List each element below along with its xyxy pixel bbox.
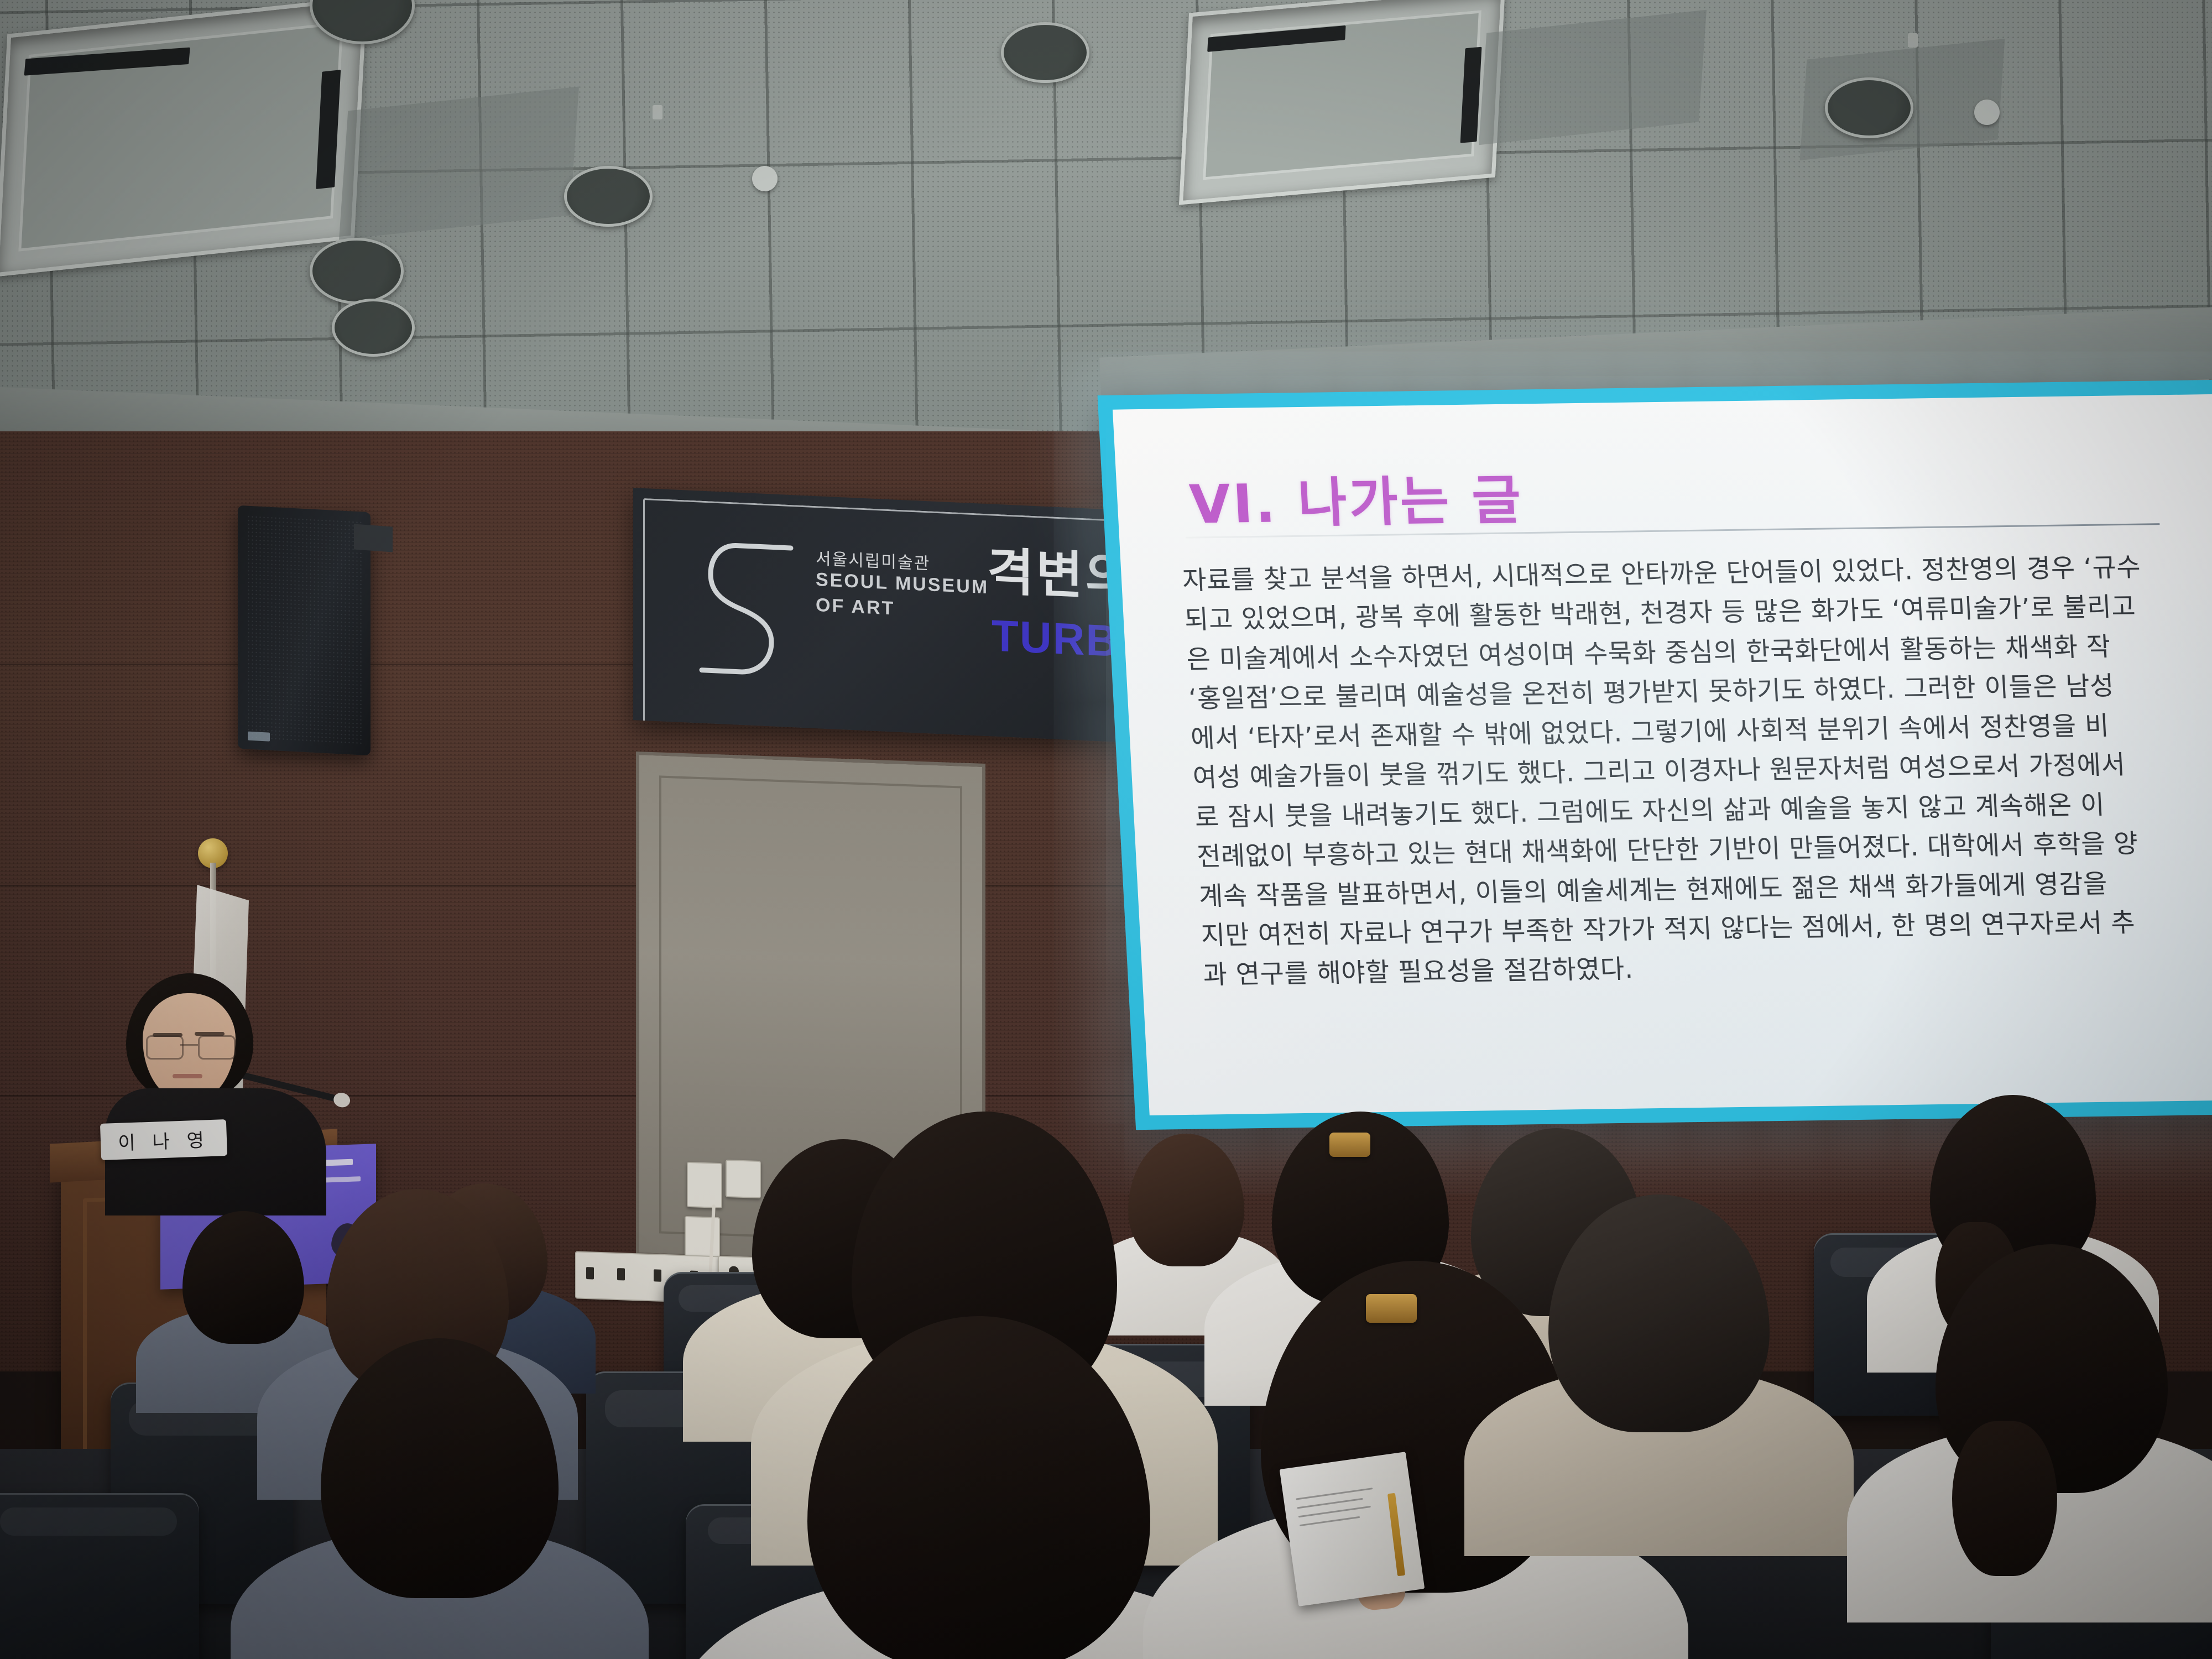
seat[interactable] xyxy=(0,1493,199,1659)
smoa-s-logo-icon xyxy=(694,534,799,705)
audience-member xyxy=(1936,1244,2168,1493)
recessed-downlight-5 xyxy=(332,299,415,357)
ceiling-panel-a xyxy=(339,87,579,240)
speaker-nameplate: 이 나 영 xyxy=(100,1119,227,1160)
sprinkler-head-1 xyxy=(1908,33,1918,48)
audience-member xyxy=(807,1316,1150,1659)
speaker-mount-bracket xyxy=(354,524,393,552)
ceiling-ac-cassette-1 xyxy=(0,0,367,277)
smoke-detector-2 xyxy=(1974,100,2000,125)
recessed-downlight-3 xyxy=(564,166,653,227)
presenter-mouth xyxy=(173,1074,202,1078)
recessed-downlight-6 xyxy=(1825,77,1913,138)
projected-slide: VI. 나가는 글 자료를 찾고 분석을 하면서, 시대적으로 안타까운 단어들… xyxy=(1113,394,2212,1115)
slide-body: 자료를 찾고 분석을 하면서, 시대적으로 안타까운 단어들이 있었다. 정찬영… xyxy=(1181,545,2212,995)
projection-screen: VI. 나가는 글 자료를 찾고 분석을 하면서, 시대적으로 안타까운 단어들… xyxy=(1098,380,2212,1130)
speaker-name: 이 나 영 xyxy=(117,1125,210,1155)
audience-member xyxy=(321,1338,559,1598)
slide-title: VI. 나가는 글 xyxy=(1187,457,1525,538)
audience-member xyxy=(1128,1134,1244,1266)
presenter xyxy=(105,973,337,1206)
lecture-hall-photo: 서울시립미술관 SEOUL MUSEUM OF ART 격변의 시 TURBUL… xyxy=(0,0,2212,1659)
recessed-downlight-2 xyxy=(310,238,404,304)
recessed-downlight-4 xyxy=(1001,22,1089,83)
ceiling-ac-cassette-2 xyxy=(1179,0,1505,205)
program-booklet xyxy=(1280,1452,1425,1606)
banner-museum-name-en-2: OF ART xyxy=(816,594,895,620)
audience-member xyxy=(1548,1194,1770,1432)
audience-member xyxy=(182,1211,304,1344)
smoke-detector-1 xyxy=(752,166,778,191)
sprinkler-head-2 xyxy=(653,105,662,119)
eyeglasses-icon xyxy=(146,1035,232,1057)
wall-loudspeaker xyxy=(238,505,371,756)
wall-switch-plate-1[interactable] xyxy=(687,1162,722,1208)
